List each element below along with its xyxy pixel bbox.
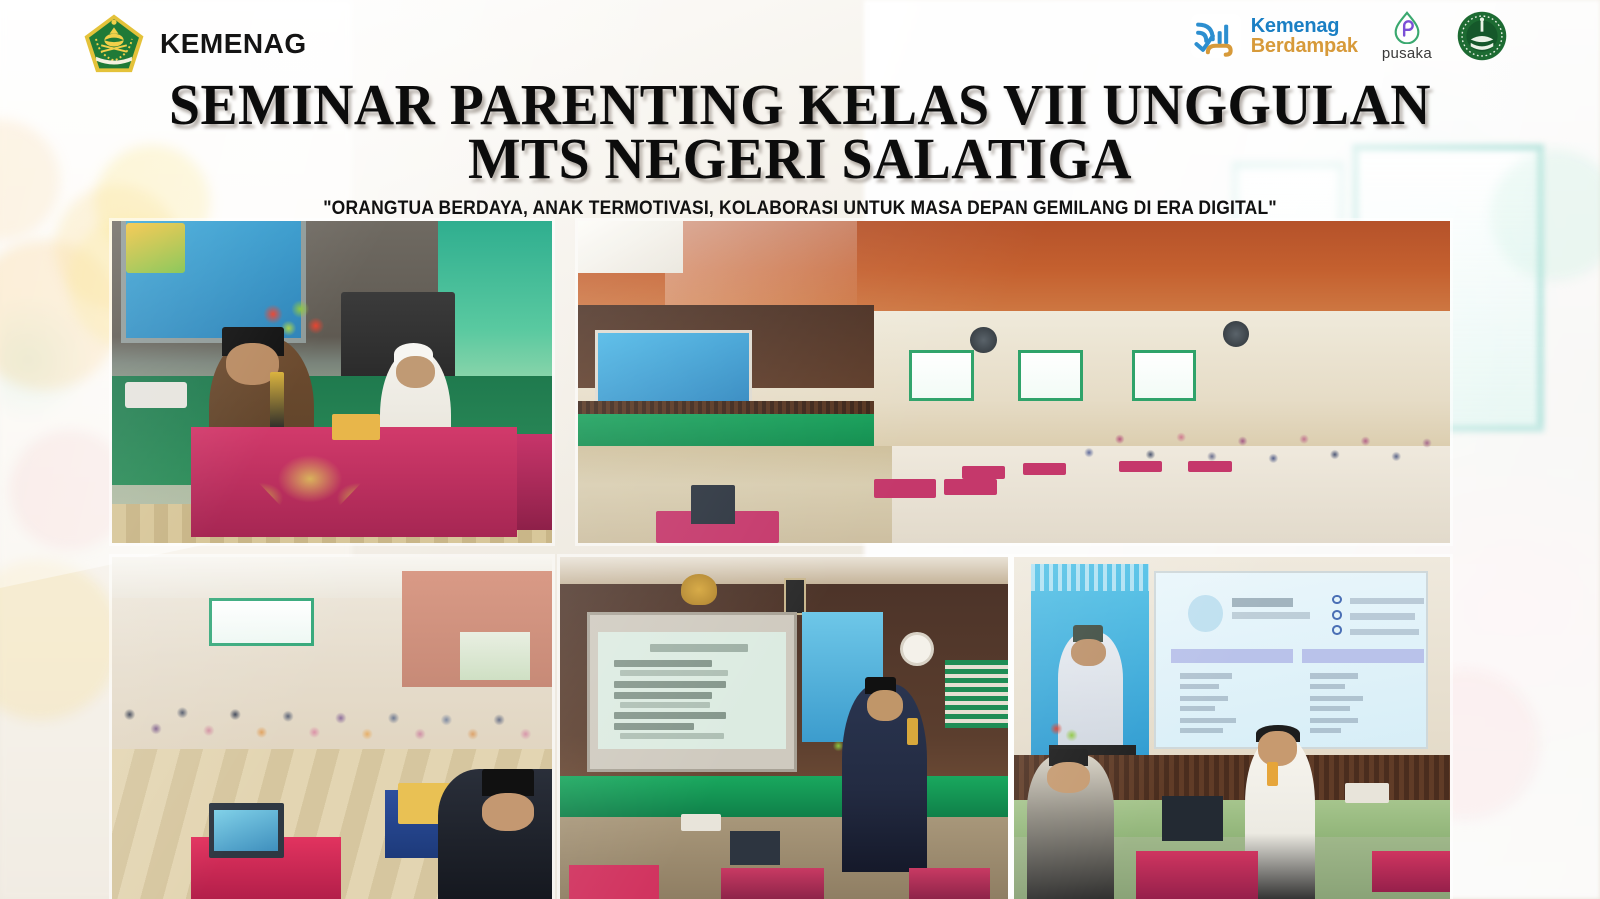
kemenag-wordmark: KEMENAG	[160, 28, 307, 60]
photo-audience-orangtua-seated	[112, 557, 552, 899]
event-subtitle-tagline: "ORANGTUA BERDAYA, ANAK TERMOTIVASI, KOL…	[64, 198, 1536, 220]
photo-two-speakers-with-profile-slide	[1014, 557, 1450, 899]
partner-logos-group: Kemenag Berdampak pusaka	[1190, 10, 1508, 62]
photo-speaker-and-kyai-at-head-table	[112, 221, 552, 543]
kemenag-brand-lockup: KEMENAG	[82, 12, 307, 76]
madrasah-seal-logo-icon	[1456, 10, 1508, 62]
kemenag-berdampak-wordmark: Kemenag Berdampak	[1251, 16, 1358, 57]
kb-line1: Kemenag	[1251, 16, 1358, 36]
kb-line2: Berdampak	[1251, 36, 1358, 56]
event-title-line-1: SEMINAR PARENTING KELAS VII UNGGULAN	[32, 78, 1568, 132]
kemenag-berdampak-logo-icon: Kemenag Berdampak	[1190, 13, 1358, 59]
title-block: SEMINAR PARENTING KELAS VII UNGGULAN MTS…	[0, 78, 1600, 220]
slide-title-generasi	[650, 644, 749, 652]
photo-presenter-with-generasi-slide	[560, 557, 1008, 899]
photo-wide-hall-audience-seated-on-mats	[578, 221, 1450, 543]
pusaka-wordmark: pusaka	[1382, 45, 1432, 62]
event-title-line-2: MTS NEGERI SALATIGA	[32, 132, 1568, 186]
pusaka-logo-icon: pusaka	[1382, 10, 1432, 62]
kemenag-pentagon-logo-icon	[82, 12, 146, 76]
